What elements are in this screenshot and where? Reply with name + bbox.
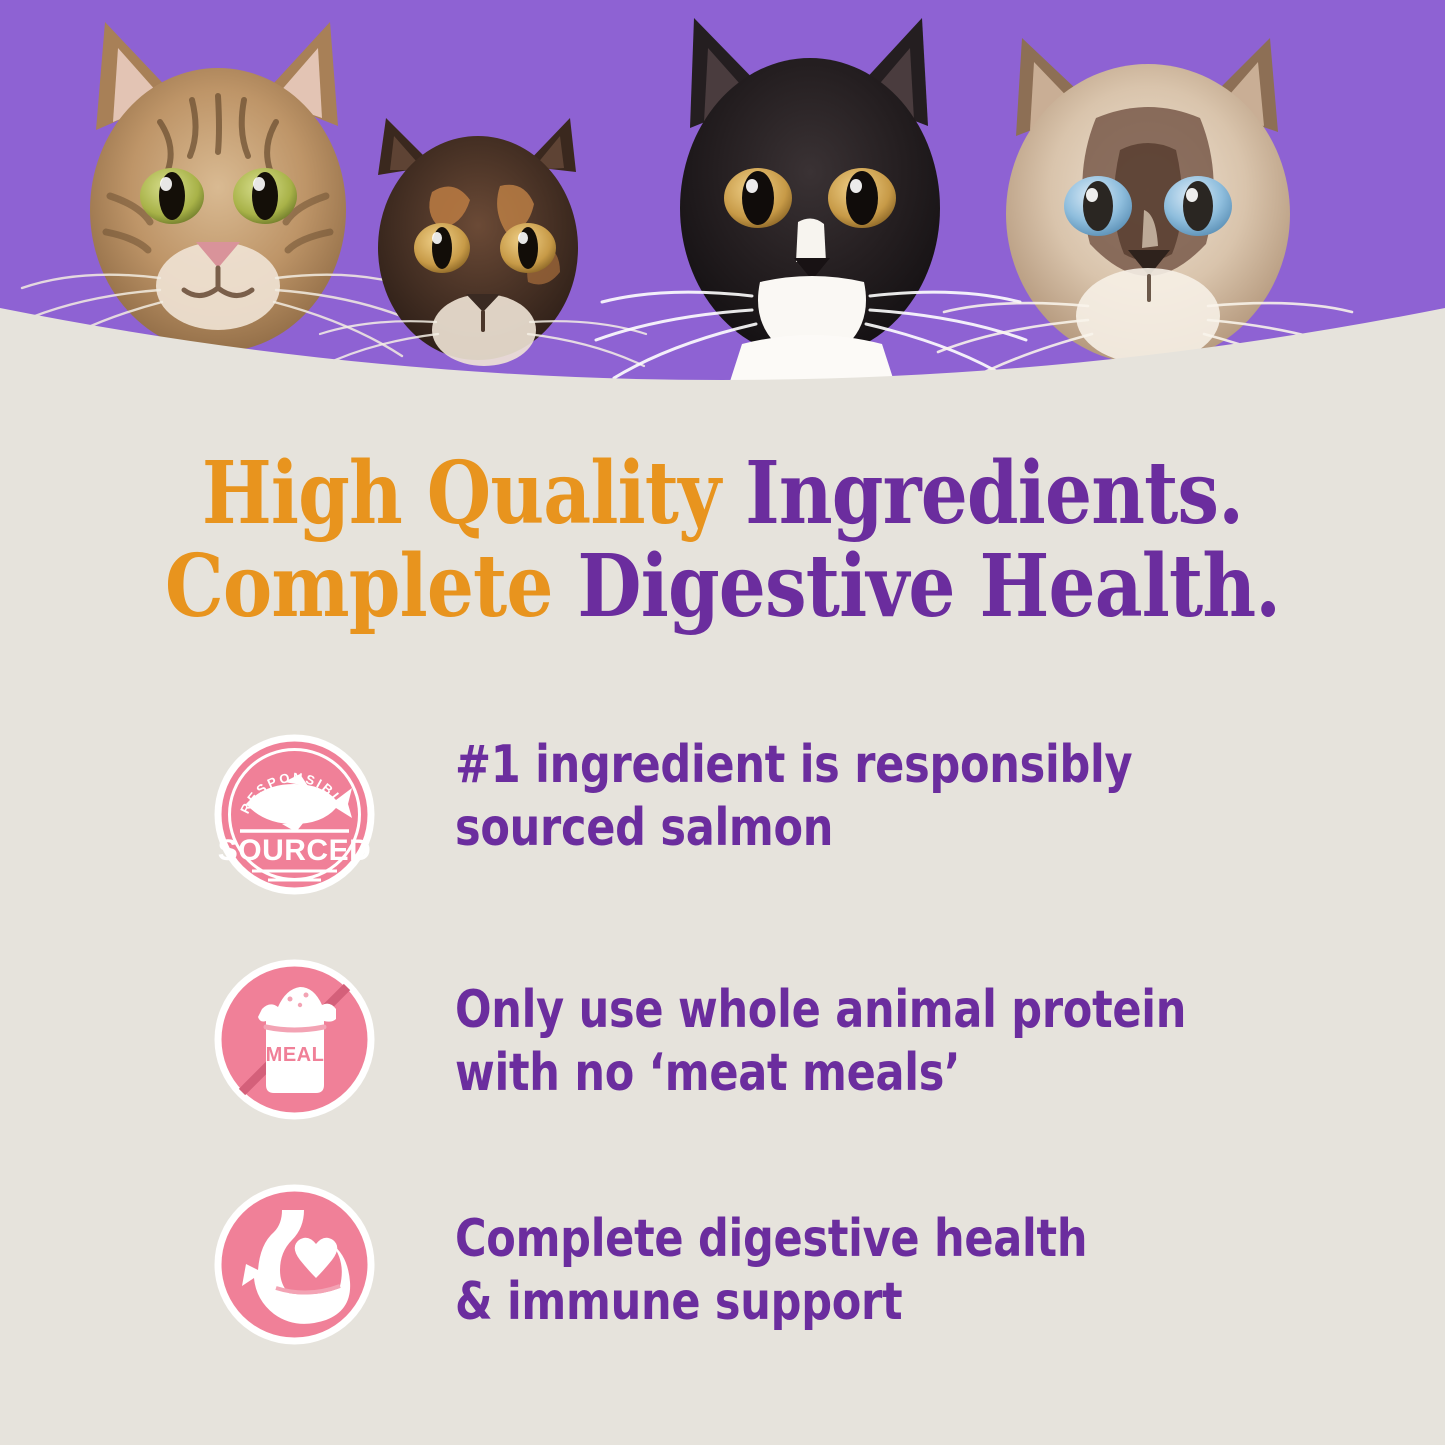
no-meat-meal-sack-icon: MEAL bbox=[212, 957, 377, 1122]
feature-row: RESPONSIBLY SOURCED #1 ingredient is res… bbox=[212, 722, 1312, 947]
headline-line1-purple: Ingredients. bbox=[745, 443, 1243, 544]
sack-label: MEAL bbox=[266, 1044, 325, 1066]
headline-line2-orange: Complete bbox=[165, 536, 553, 637]
headline-line-2: Complete Digestive Health. bbox=[101, 541, 1344, 634]
feature-text-line-2: sourced salmon bbox=[455, 797, 1219, 860]
feature-row: Complete digestive health & immune suppo… bbox=[212, 1172, 1312, 1397]
feature-text-line-2: with no ‘meat meals’ bbox=[455, 1042, 1219, 1105]
responsibly-sourced-fish-badge-icon: RESPONSIBLY SOURCED bbox=[212, 732, 377, 897]
feature-text: #1 ingredient is responsibly sourced sal… bbox=[455, 734, 1285, 861]
feature-text-line-1: Complete digestive health bbox=[455, 1208, 1219, 1271]
feature-text: Only use whole animal protein with no ‘m… bbox=[455, 979, 1285, 1106]
marketing-infographic: High Quality Ingredients. Complete Diges… bbox=[0, 0, 1445, 1445]
headline-line1-orange: High Quality bbox=[202, 443, 720, 544]
cat-photo-banner bbox=[0, 0, 1445, 400]
feature-list: RESPONSIBLY SOURCED #1 ingredient is res… bbox=[212, 722, 1312, 1397]
badge-label: SOURCED bbox=[218, 834, 372, 867]
page-headline: High Quality Ingredients. Complete Diges… bbox=[0, 448, 1445, 634]
feature-text: Complete digestive health & immune suppo… bbox=[455, 1208, 1285, 1335]
headline-line2-purple: Digestive Health. bbox=[577, 536, 1280, 637]
feature-text-line-1: Only use whole animal protein bbox=[455, 979, 1219, 1042]
stomach-heart-digestive-health-icon bbox=[212, 1182, 377, 1347]
feature-row: MEAL Only use whole animal protein with … bbox=[212, 947, 1312, 1172]
curved-divider bbox=[0, 0, 1445, 400]
feature-text-line-2: & immune support bbox=[455, 1271, 1219, 1334]
headline-line-1: High Quality Ingredients. bbox=[101, 448, 1344, 541]
feature-text-line-1: #1 ingredient is responsibly bbox=[455, 734, 1219, 797]
